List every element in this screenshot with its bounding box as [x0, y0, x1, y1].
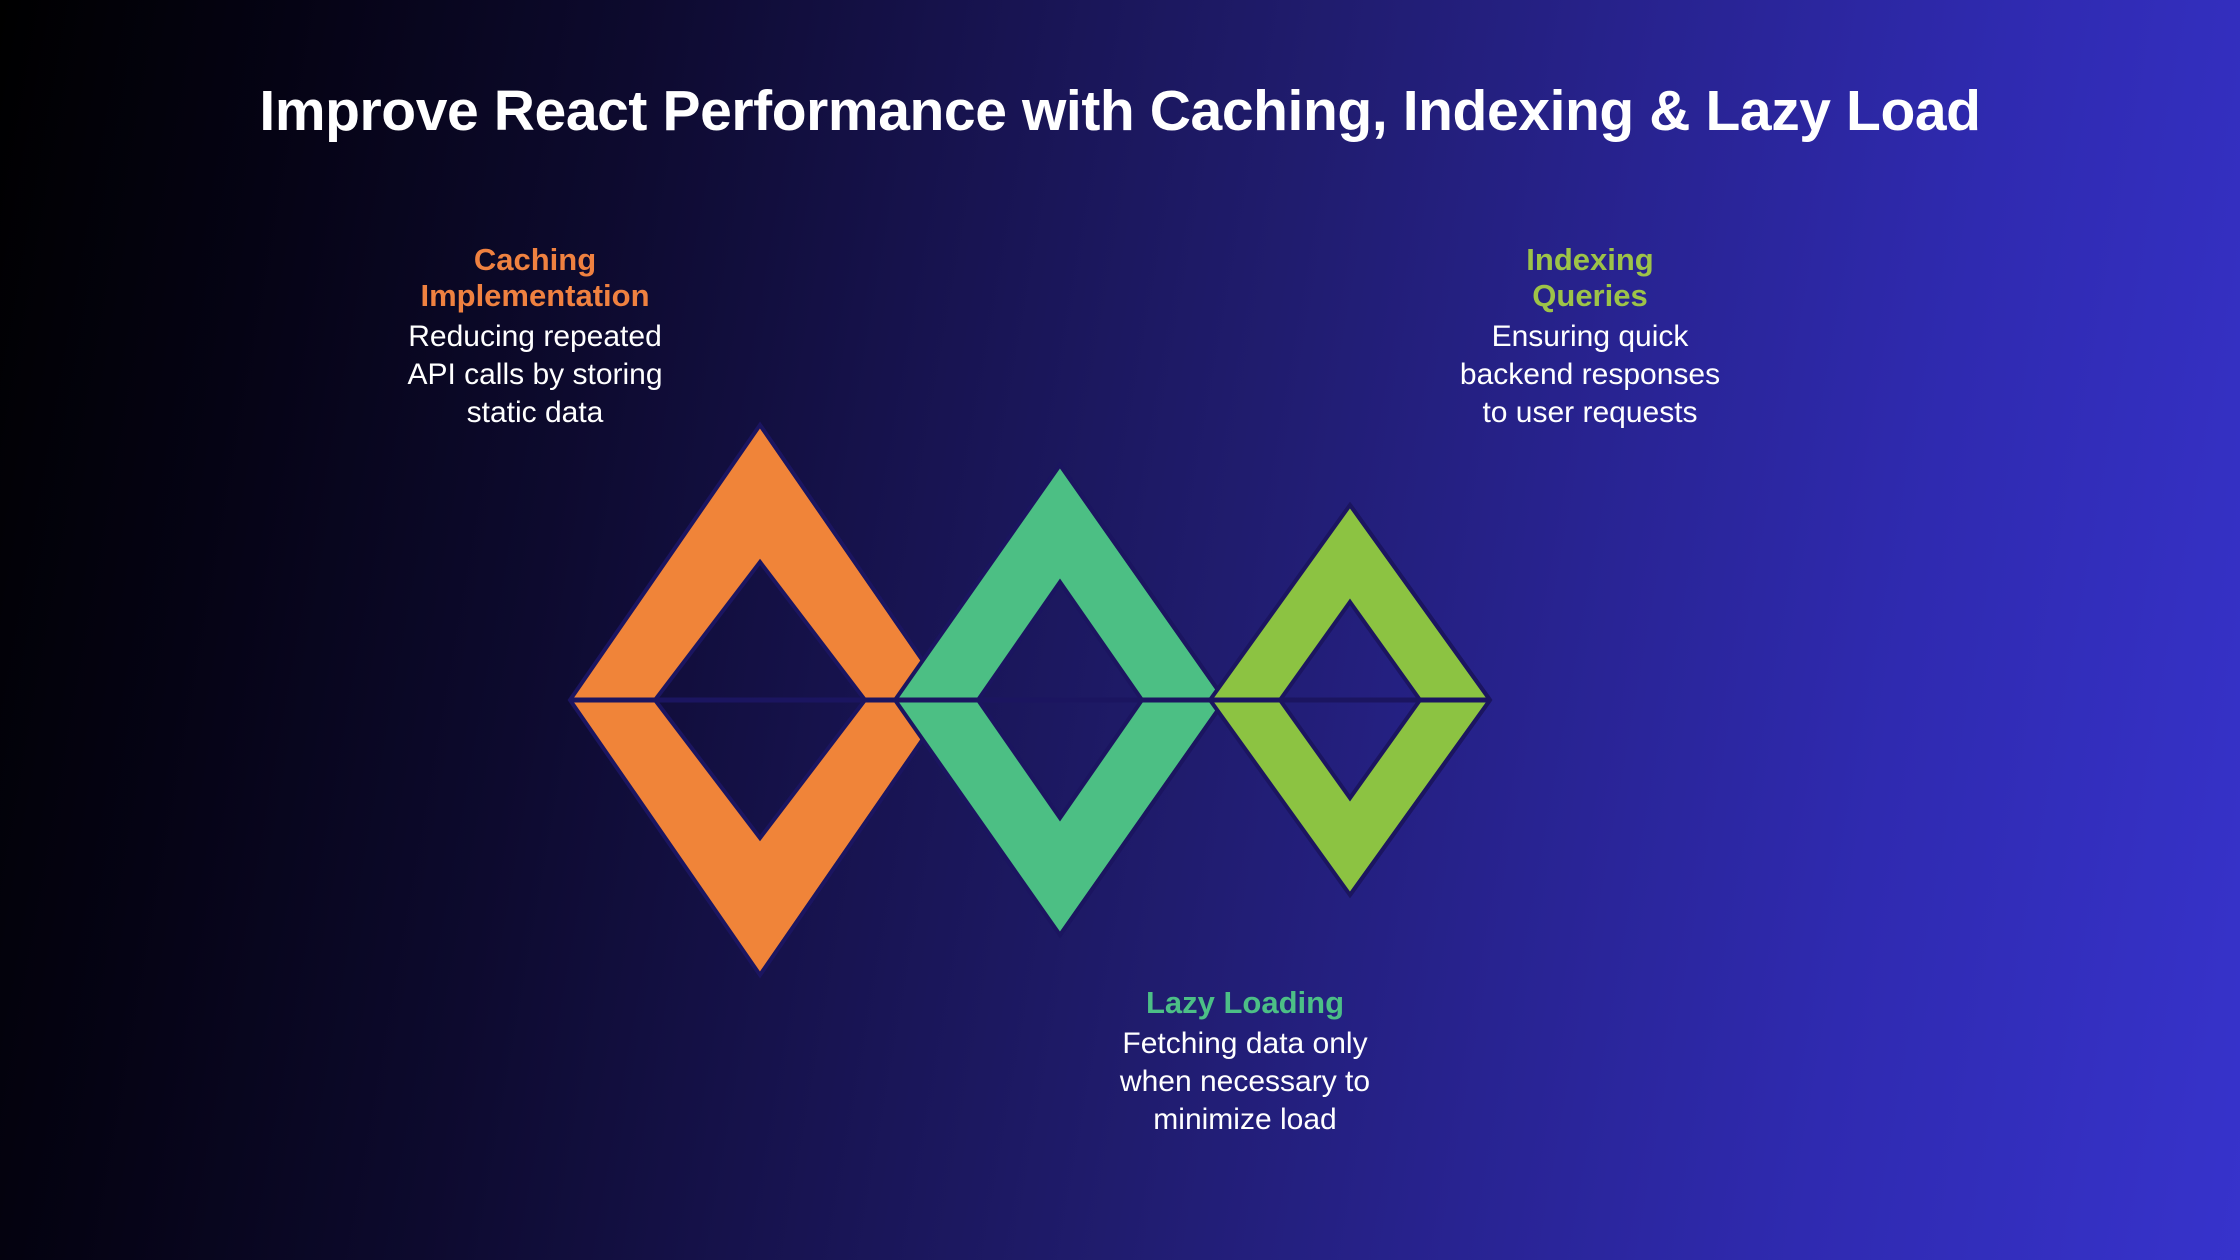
callout-caching-body-line3: static data	[467, 396, 604, 429]
callout-lazy-body: Fetching data only when necessary to min…	[1045, 1025, 1445, 1139]
page-title: Improve React Performance with Caching, …	[0, 78, 2240, 144]
callout-caching-heading-line1: Caching	[474, 242, 596, 277]
ring-indexing	[1210, 505, 1490, 895]
callout-lazy-body-line3: minimize load	[1153, 1103, 1336, 1136]
callout-caching: Caching Implementation Reducing repeated…	[350, 242, 720, 432]
callout-indexing-heading-line2: Queries	[1532, 278, 1647, 313]
callout-caching-body-line1: Reducing repeated	[408, 320, 662, 353]
callout-indexing-body: Ensuring quick backend responses to user…	[1400, 318, 1780, 432]
callout-indexing-heading: Indexing Queries	[1400, 242, 1780, 314]
callout-indexing-heading-line1: Indexing	[1526, 242, 1653, 277]
callout-caching-body-line2: API calls by storing	[407, 358, 662, 391]
callout-indexing: Indexing Queries Ensuring quick backend …	[1400, 242, 1780, 432]
callout-lazy: Lazy Loading Fetching data only when nec…	[1045, 985, 1445, 1139]
callout-indexing-body-line3: to user requests	[1482, 396, 1697, 429]
slide-root: Improve React Performance with Caching, …	[0, 0, 2240, 1260]
callout-indexing-body-line1: Ensuring quick	[1492, 320, 1689, 353]
callout-indexing-body-line2: backend responses	[1460, 358, 1720, 391]
callout-lazy-heading: Lazy Loading	[1045, 985, 1445, 1021]
callout-caching-heading: Caching Implementation	[350, 242, 720, 314]
callout-lazy-body-line1: Fetching data only	[1122, 1027, 1367, 1060]
callout-lazy-body-line2: when necessary to	[1120, 1065, 1370, 1098]
callout-caching-body: Reducing repeated API calls by storing s…	[350, 318, 720, 432]
callout-caching-heading-line2: Implementation	[420, 278, 649, 313]
callout-lazy-heading-line1: Lazy Loading	[1146, 985, 1344, 1020]
